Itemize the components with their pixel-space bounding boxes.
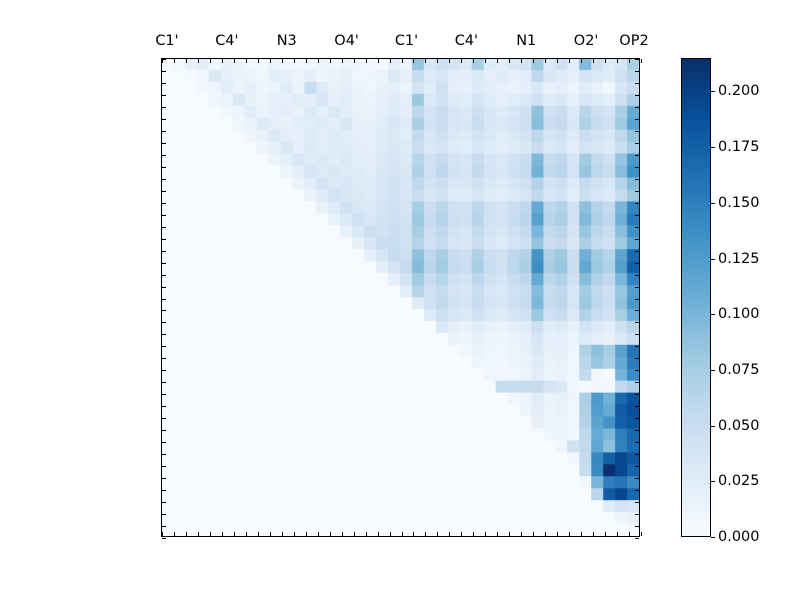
- y-tick-right: [635, 334, 639, 335]
- colorbar-tick: [711, 370, 715, 371]
- y-tick-right: [635, 346, 639, 347]
- x-axis-label: OP2: [619, 33, 648, 49]
- y-tick-right: [635, 227, 639, 228]
- y-tick: [162, 95, 166, 96]
- x-tick: [497, 59, 498, 63]
- x-tick-bottom: [174, 532, 175, 536]
- colorbar-tick: [711, 147, 715, 148]
- x-tick-bottom: [449, 532, 450, 536]
- x-tick: [581, 59, 582, 63]
- colorbar-tick: [711, 314, 715, 315]
- x-tick: [222, 59, 223, 63]
- x-tick-bottom: [186, 532, 187, 536]
- colorbar-tick: [711, 259, 715, 260]
- x-tick: [198, 59, 199, 63]
- y-tick: [162, 466, 166, 467]
- y-tick: [162, 430, 166, 431]
- y-tick: [162, 502, 166, 503]
- y-tick: [162, 346, 166, 347]
- y-tick: [162, 370, 166, 371]
- x-tick-bottom: [485, 532, 486, 536]
- x-tick-bottom: [425, 532, 426, 536]
- y-tick: [162, 418, 166, 419]
- x-tick-bottom: [557, 532, 558, 536]
- y-tick-right: [635, 251, 639, 252]
- x-tick-bottom: [521, 532, 522, 536]
- y-tick: [162, 143, 166, 144]
- x-tick: [246, 59, 247, 63]
- x-tick-bottom: [629, 532, 630, 536]
- x-axis-label: C4': [455, 33, 478, 49]
- x-tick: [461, 59, 462, 63]
- y-tick-right: [635, 203, 639, 204]
- y-tick-right: [635, 370, 639, 371]
- y-tick: [162, 179, 166, 180]
- y-tick-right: [635, 191, 639, 192]
- y-tick: [162, 239, 166, 240]
- x-axis-label: N3: [277, 33, 297, 49]
- y-tick-right: [635, 394, 639, 395]
- y-tick: [162, 310, 166, 311]
- x-tick-bottom: [294, 532, 295, 536]
- y-tick: [162, 514, 166, 515]
- x-tick: [605, 59, 606, 63]
- x-tick-bottom: [378, 532, 379, 536]
- y-tick: [162, 358, 166, 359]
- colorbar-tick-label: 0.100: [718, 306, 760, 322]
- y-tick-right: [635, 95, 639, 96]
- x-tick: [617, 59, 618, 63]
- colorbar-tick: [711, 203, 715, 204]
- x-tick-bottom: [318, 532, 319, 536]
- y-tick: [162, 490, 166, 491]
- colorbar-tick-label: 0.150: [718, 195, 760, 211]
- y-tick: [162, 454, 166, 455]
- x-tick-bottom: [162, 532, 163, 536]
- x-tick-bottom: [354, 532, 355, 536]
- y-tick-right: [635, 215, 639, 216]
- x-tick: [210, 59, 211, 63]
- y-tick-right: [635, 167, 639, 168]
- x-tick: [366, 59, 367, 63]
- y-tick-right: [635, 239, 639, 240]
- x-tick: [306, 59, 307, 63]
- y-tick: [162, 215, 166, 216]
- y-tick: [162, 119, 166, 120]
- x-tick-bottom: [641, 532, 642, 536]
- colorbar-tick-label: 0.000: [718, 529, 760, 545]
- colorbar-box: [681, 58, 711, 537]
- x-tick-bottom: [258, 532, 259, 536]
- x-tick-bottom: [509, 532, 510, 536]
- y-tick: [162, 275, 166, 276]
- x-tick-bottom: [617, 532, 618, 536]
- x-tick: [402, 59, 403, 63]
- y-tick: [162, 191, 166, 192]
- x-tick: [509, 59, 510, 63]
- x-tick: [437, 59, 438, 63]
- y-tick-right: [635, 179, 639, 180]
- y-tick: [162, 131, 166, 132]
- x-tick: [413, 59, 414, 63]
- colorbar-tick-label: 0.050: [718, 418, 760, 434]
- x-tick: [449, 59, 450, 63]
- y-tick: [162, 538, 166, 539]
- y-tick-right: [635, 538, 639, 539]
- y-tick-right: [635, 382, 639, 383]
- y-tick-right: [635, 59, 639, 60]
- x-tick: [174, 59, 175, 63]
- y-tick: [162, 526, 166, 527]
- x-tick: [282, 59, 283, 63]
- x-tick: [485, 59, 486, 63]
- y-tick: [162, 442, 166, 443]
- y-tick: [162, 107, 166, 108]
- y-tick: [162, 251, 166, 252]
- x-tick: [557, 59, 558, 63]
- heatmap-plot-area: [161, 58, 640, 537]
- x-tick-bottom: [198, 532, 199, 536]
- x-axis-label: C1': [395, 33, 418, 49]
- x-tick-bottom: [581, 532, 582, 536]
- x-tick-bottom: [473, 532, 474, 536]
- y-tick: [162, 59, 166, 60]
- x-tick-bottom: [366, 532, 367, 536]
- y-tick-right: [635, 83, 639, 84]
- y-tick-right: [635, 526, 639, 527]
- y-tick: [162, 155, 166, 156]
- colorbar-tick-label: 0.175: [718, 139, 760, 155]
- y-tick-right: [635, 287, 639, 288]
- colorbar-tick: [711, 481, 715, 482]
- y-tick: [162, 227, 166, 228]
- y-tick: [162, 322, 166, 323]
- y-tick-right: [635, 310, 639, 311]
- colorbar-tick-label: 0.125: [718, 251, 760, 267]
- colorbar: 0.0000.0250.0500.0750.1000.1250.1500.175…: [681, 58, 711, 537]
- x-tick-bottom: [497, 532, 498, 536]
- x-axis-label: O2': [574, 33, 599, 49]
- x-tick: [330, 59, 331, 63]
- colorbar-tick-label: 0.025: [718, 473, 760, 489]
- x-tick-bottom: [270, 532, 271, 536]
- y-tick-right: [635, 406, 639, 407]
- y-tick: [162, 287, 166, 288]
- x-tick: [258, 59, 259, 63]
- y-tick-right: [635, 430, 639, 431]
- x-tick: [234, 59, 235, 63]
- y-tick-right: [635, 514, 639, 515]
- y-tick-right: [635, 119, 639, 120]
- y-tick: [162, 83, 166, 84]
- x-tick-bottom: [593, 532, 594, 536]
- y-tick-right: [635, 263, 639, 264]
- x-tick: [294, 59, 295, 63]
- y-tick-right: [635, 442, 639, 443]
- x-tick-bottom: [234, 532, 235, 536]
- heatmap-canvas: [162, 59, 639, 536]
- colorbar-gradient: [682, 59, 710, 536]
- x-tick-bottom: [605, 532, 606, 536]
- y-tick-right: [635, 107, 639, 108]
- x-tick-bottom: [390, 532, 391, 536]
- x-tick: [354, 59, 355, 63]
- x-tick: [425, 59, 426, 63]
- x-tick: [641, 59, 642, 63]
- y-tick-right: [635, 143, 639, 144]
- colorbar-tick-label: 0.075: [718, 362, 760, 378]
- y-tick-right: [635, 155, 639, 156]
- y-tick-right: [635, 454, 639, 455]
- x-tick-bottom: [461, 532, 462, 536]
- colorbar-tick-label: 0.200: [718, 83, 760, 99]
- colorbar-tick: [711, 426, 715, 427]
- y-tick-right: [635, 71, 639, 72]
- x-tick: [629, 59, 630, 63]
- x-axis-label: O4': [334, 33, 359, 49]
- x-tick-bottom: [342, 532, 343, 536]
- x-tick-bottom: [533, 532, 534, 536]
- y-tick-right: [635, 490, 639, 491]
- x-tick-bottom: [210, 532, 211, 536]
- x-tick: [521, 59, 522, 63]
- x-tick-bottom: [402, 532, 403, 536]
- colorbar-tick: [711, 537, 715, 538]
- y-tick-right: [635, 358, 639, 359]
- x-tick-bottom: [413, 532, 414, 536]
- x-tick: [186, 59, 187, 63]
- y-tick: [162, 406, 166, 407]
- x-tick-bottom: [545, 532, 546, 536]
- x-tick: [569, 59, 570, 63]
- y-tick: [162, 382, 166, 383]
- y-tick: [162, 263, 166, 264]
- x-axis-label: N1: [516, 33, 536, 49]
- x-tick: [390, 59, 391, 63]
- x-tick: [378, 59, 379, 63]
- x-tick-bottom: [330, 532, 331, 536]
- x-tick: [533, 59, 534, 63]
- x-tick-bottom: [569, 532, 570, 536]
- y-tick: [162, 394, 166, 395]
- x-tick: [593, 59, 594, 63]
- y-tick-right: [635, 275, 639, 276]
- y-tick: [162, 71, 166, 72]
- x-axis-label: C4': [215, 33, 238, 49]
- y-tick-right: [635, 418, 639, 419]
- x-tick: [342, 59, 343, 63]
- y-tick: [162, 167, 166, 168]
- x-tick-bottom: [246, 532, 247, 536]
- y-tick: [162, 478, 166, 479]
- x-tick: [318, 59, 319, 63]
- x-tick: [545, 59, 546, 63]
- y-tick-right: [635, 502, 639, 503]
- y-tick-right: [635, 131, 639, 132]
- x-tick-bottom: [282, 532, 283, 536]
- y-tick-right: [635, 466, 639, 467]
- colorbar-tick: [711, 91, 715, 92]
- x-axis-label: C1': [155, 33, 178, 49]
- y-tick: [162, 299, 166, 300]
- heatmap-figure: C1'C4'N3O4'C1'C4'N1O2'OP2 C1'C4'N3O4'C1'…: [0, 0, 800, 600]
- x-tick-bottom: [437, 532, 438, 536]
- y-tick: [162, 334, 166, 335]
- y-tick-right: [635, 322, 639, 323]
- x-tick: [270, 59, 271, 63]
- x-tick-bottom: [222, 532, 223, 536]
- y-tick-right: [635, 299, 639, 300]
- x-tick-bottom: [306, 532, 307, 536]
- x-tick: [473, 59, 474, 63]
- y-tick-right: [635, 478, 639, 479]
- y-tick: [162, 203, 166, 204]
